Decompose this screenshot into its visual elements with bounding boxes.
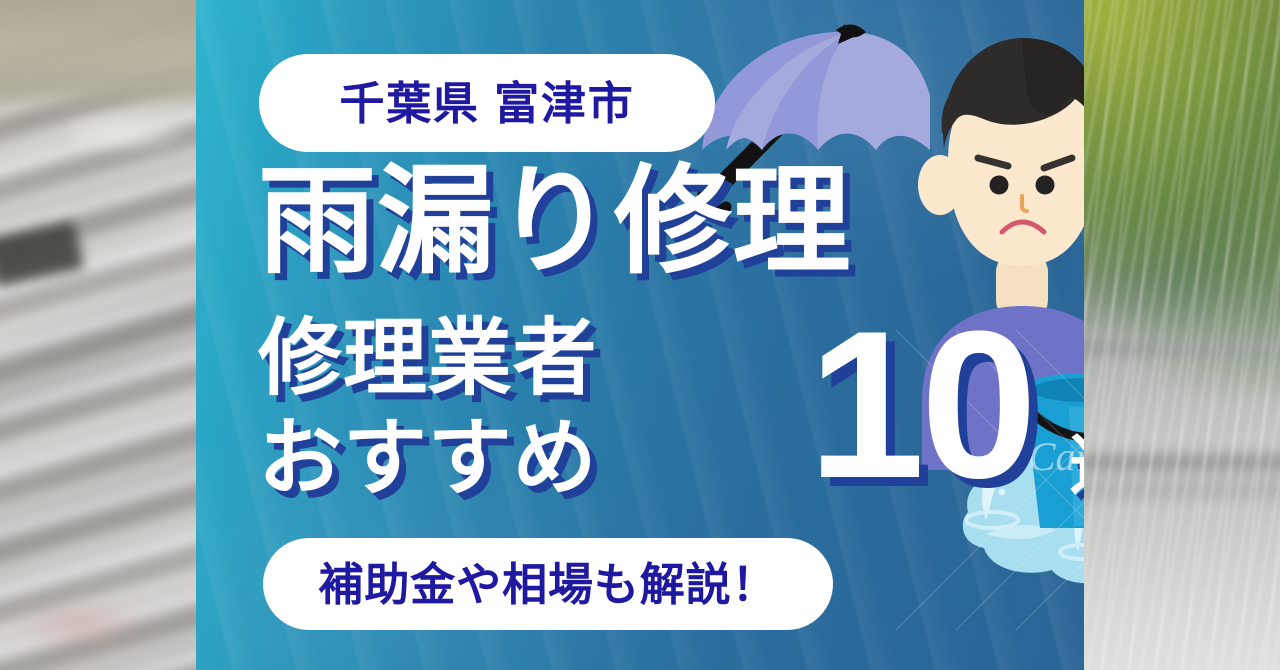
left-roof-photo — [0, 0, 196, 670]
boy-nose — [1022, 196, 1027, 211]
roof-pink-blur — [10, 600, 150, 650]
subsidy-badge-label: 補助金や相場も解説！ — [318, 562, 777, 607]
boy-eyebrow-right — [1044, 158, 1072, 168]
count-number: 10 — [808, 300, 1033, 510]
splash-ring-center — [1060, 545, 1084, 559]
boy-eye-left — [990, 176, 1009, 195]
bucket-rim-inner — [1032, 378, 1084, 402]
boy-mouth-frown — [1002, 222, 1044, 232]
boy-ear-right — [1078, 155, 1084, 215]
boy-hair-shade — [1022, 38, 1084, 152]
umbrella-panel-left — [726, 32, 851, 150]
boy-hair — [943, 38, 1084, 152]
umbrella-panel-right — [817, 32, 930, 150]
roof-photo-top-blur — [0, 0, 196, 100]
count-unit: 選 — [1069, 432, 1084, 498]
boy-eyebrow-left — [978, 158, 1008, 166]
rain-streaks-secondary — [1084, 0, 1280, 670]
roof-tile-stripes — [0, 0, 196, 670]
umbrella-ferrule — [838, 24, 868, 48]
right-rain-photo — [1084, 0, 1280, 670]
headline-line3: おすすめ — [258, 416, 597, 500]
location-badge-label: 千葉県 富津市 — [339, 81, 634, 126]
boy-face — [948, 54, 1084, 266]
headline-line2: 修理業者 — [258, 316, 597, 400]
umbrella-canopy — [702, 32, 930, 150]
subsidy-badge[interactable]: 補助金や相場も解説！ — [263, 538, 833, 630]
boy-sideburn-left — [942, 88, 956, 140]
roof-moss-patch — [70, 110, 190, 156]
boy-ear-left — [918, 155, 962, 215]
poster-canvas: Canva 千葉県 富津市 雨漏り修理 修理業者 おすすめ 10 選 補助金や相… — [0, 0, 1280, 670]
boy-eye-right — [1036, 176, 1055, 195]
puddle-highlight-1 — [986, 525, 1056, 539]
location-badge[interactable]: 千葉県 富津市 — [259, 54, 715, 152]
splash-center — [1074, 494, 1084, 552]
center-panel: Canva 千葉県 富津市 雨漏り修理 修理業者 おすすめ 10 選 補助金や相… — [196, 0, 1084, 670]
headline-main: 雨漏り修理 — [258, 163, 851, 281]
